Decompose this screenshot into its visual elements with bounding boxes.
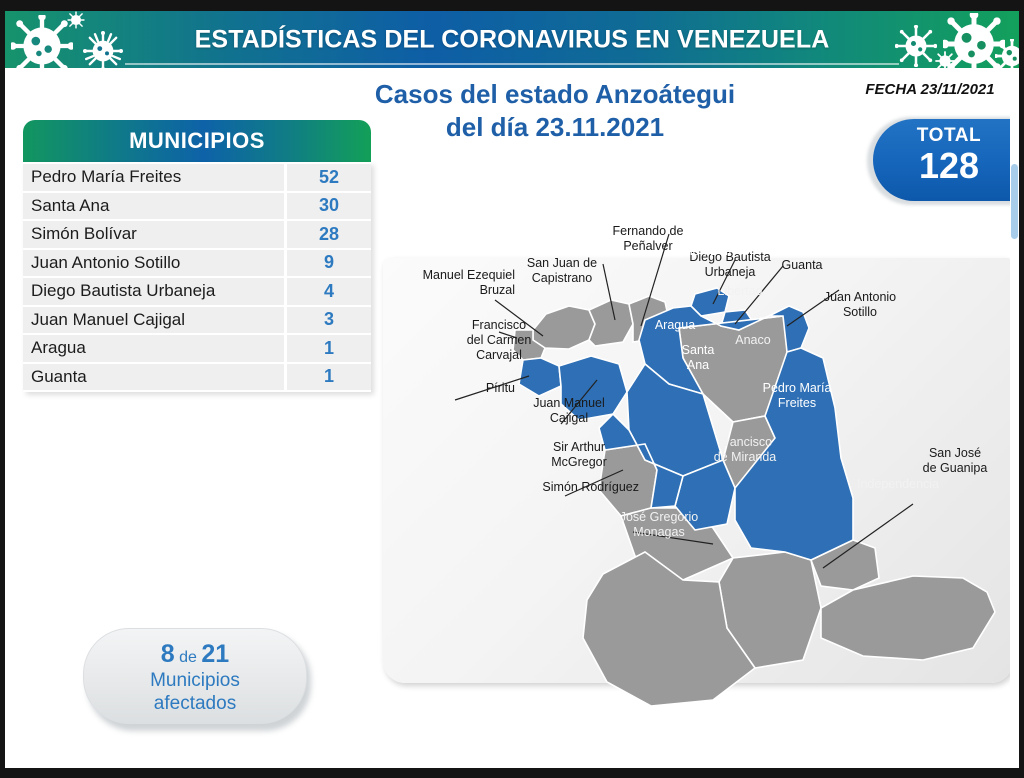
- municipio-name: Diego Bautista Urbaneja: [23, 278, 284, 305]
- municipio-name: Santa Ana: [23, 193, 284, 220]
- map-label-simon-rodriguez: Simón Rodríguez: [517, 480, 639, 495]
- municipio-cases: 9: [287, 250, 371, 277]
- municipio-name: Guanta: [23, 364, 284, 391]
- affected-badge: 8 de 21 Municipios afectados: [83, 628, 307, 724]
- total-label: TOTAL: [873, 125, 1019, 147]
- table-row[interactable]: Guanta 1: [23, 364, 371, 393]
- municipios-table-body: Pedro María Freites 52 Santa Ana 30 Simó…: [23, 162, 371, 392]
- table-row[interactable]: Pedro María Freites 52: [23, 164, 371, 193]
- total-value: 128: [873, 147, 1019, 185]
- affected-count-line: 8 de 21: [84, 640, 306, 669]
- affected-connector: de: [179, 649, 197, 666]
- municipio-name: Aragua: [23, 335, 284, 362]
- header-title: ESTADÍSTICAS DEL CORONAVIRUS EN VENEZUEL…: [5, 25, 1019, 54]
- municipio-name: Simón Bolívar: [23, 221, 284, 248]
- map-label-manuel-ezequiel-bruzal: Manuel EzequielBruzal: [405, 268, 515, 298]
- map-regions: [513, 288, 995, 706]
- municipio-name: Juan Antonio Sotillo: [23, 250, 284, 277]
- page-title-line2: del día 23.11.2021: [295, 111, 815, 144]
- municipio-cases: 28: [287, 221, 371, 248]
- table-row[interactable]: Santa Ana 30: [23, 193, 371, 222]
- affected-total: 21: [201, 640, 229, 668]
- table-row[interactable]: Aragua 1: [23, 335, 371, 364]
- municipio-cases: 1: [287, 364, 371, 391]
- municipio-cases: 1: [287, 335, 371, 362]
- total-badge: TOTAL 128: [873, 119, 1019, 201]
- municipios-table: MUNICIPIOS Pedro María Freites 52 Santa …: [23, 120, 371, 392]
- bottom-letterbox-bar: [0, 768, 1024, 778]
- content-page: Casos del estado Anzoátegui del día 23.1…: [5, 68, 1019, 768]
- affected-label-line2: afectados: [84, 692, 306, 715]
- affected-count: 8: [161, 640, 175, 668]
- table-row[interactable]: Juan Manuel Cajigal 3: [23, 307, 371, 336]
- scrollbar-thumb[interactable]: [1011, 164, 1018, 239]
- map-label-juan-antonio-sotillo: Juan AntonioSotillo: [805, 290, 915, 320]
- map-label-francisco-del-carmen-carvajal: Franciscodel CarmenCarvajal: [445, 318, 553, 362]
- table-row[interactable]: Juan Antonio Sotillo 9: [23, 250, 371, 279]
- header-banner: ESTADÍSTICAS DEL CORONAVIRUS EN VENEZUEL…: [5, 11, 1019, 68]
- map-label-sir-arthur-mcgregor: Sir ArthurMcGregor: [531, 440, 627, 470]
- map-label-san-jose-de-guanipa: San Joséde Guanipa: [905, 446, 1005, 476]
- municipio-cases: 30: [287, 193, 371, 220]
- municipio-cases: 52: [287, 164, 371, 191]
- infographic-root: ESTADÍSTICAS DEL CORONAVIRUS EN VENEZUEL…: [0, 0, 1024, 778]
- right-letterbox-edge: [1019, 0, 1024, 778]
- map-label-guanta: Guanta: [767, 258, 837, 273]
- municipio-name: Pedro María Freites: [23, 164, 284, 191]
- table-row[interactable]: Simón Bolívar 28: [23, 221, 371, 250]
- map-label-san-juan-de-capistrano: San Juan deCapistrano: [507, 256, 617, 286]
- municipio-cases: 3: [287, 307, 371, 334]
- date-stamp: FECHA 23/11/2021: [850, 81, 1010, 98]
- page-title-line1: Casos del estado Anzoátegui: [295, 78, 815, 111]
- scrollbar-track[interactable]: [1010, 68, 1019, 768]
- map-label-piritu: Píritu: [455, 381, 515, 396]
- top-letterbox-bar: [0, 0, 1024, 11]
- map-region-san-juan-de-capistrano[interactable]: [589, 300, 633, 346]
- header-underline: [125, 63, 899, 65]
- municipio-cases: 4: [287, 278, 371, 305]
- municipios-table-header: MUNICIPIOS: [23, 120, 371, 162]
- map-label-juan-manuel-cajigal: Juan ManuelCajigal: [517, 396, 621, 426]
- table-row[interactable]: Diego Bautista Urbaneja 4: [23, 278, 371, 307]
- affected-label-line1: Municipios: [84, 669, 306, 692]
- page-title: Casos del estado Anzoátegui del día 23.1…: [295, 78, 815, 145]
- municipio-name: Juan Manuel Cajigal: [23, 307, 284, 334]
